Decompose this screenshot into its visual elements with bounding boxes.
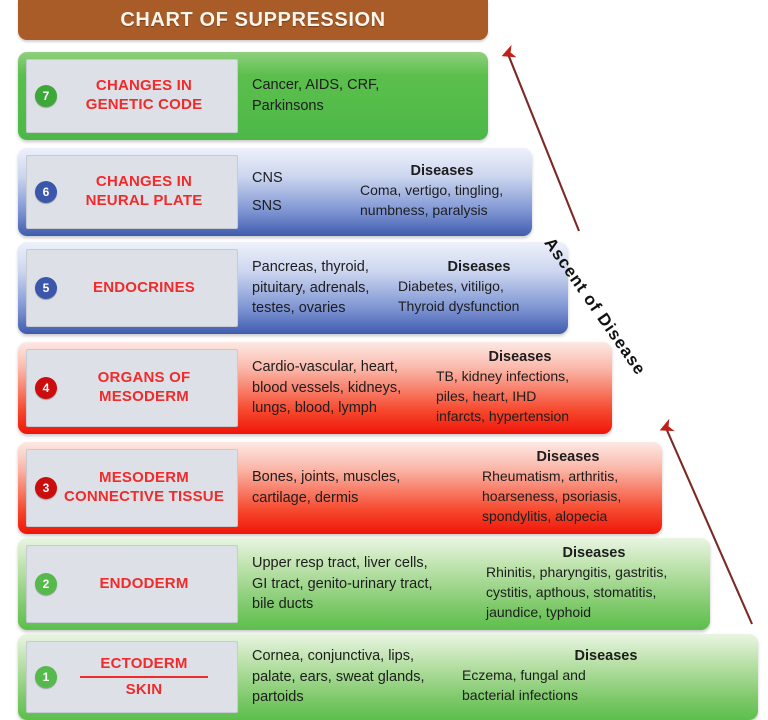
organ-line: palate, ears, sweat glands, — [252, 667, 425, 688]
row-title-line2: CONNECTIVE TISSUE — [57, 488, 231, 507]
row-title-line2: MESODERM — [57, 388, 231, 407]
row-number-badge: 3 — [35, 477, 57, 499]
disease-line: bacterial infections — [462, 686, 750, 706]
row-diseases: DiseasesComa, vertigo, tingling,numbness… — [348, 148, 532, 236]
diseases-body: Rhinitis, pharyngitis, gastritis,cystiti… — [486, 563, 702, 623]
row-title: CHANGES INNEURAL PLATE — [27, 173, 237, 211]
row-title-line1: ECTODERM — [80, 655, 209, 678]
disease-line: piles, heart, IHD — [436, 387, 604, 407]
chart-row-2[interactable]: 2ENDODERMUpper resp tract, liver cells,G… — [18, 538, 710, 630]
page-title: CHART OF SUPPRESSION — [120, 9, 385, 32]
row-title-line1: ORGANS OF — [98, 369, 191, 386]
row-organs: Bones, joints, muscles,cartilage, dermis — [238, 442, 470, 534]
organ-line: Cornea, conjunctiva, lips, — [252, 646, 425, 667]
row-title-line1: MESODERM — [99, 469, 189, 486]
disease-line: Thyroid dysfunction — [398, 297, 560, 317]
chart-row-6[interactable]: 6CHANGES INNEURAL PLATECNSSNSDiseasesCom… — [18, 148, 532, 236]
row-inner: 7CHANGES INGENETIC CODECancer, AIDS, CRF… — [18, 52, 488, 140]
row-label-panel[interactable]: 3MESODERMCONNECTIVE TISSUE — [26, 449, 238, 527]
row-number-badge: 7 — [35, 85, 57, 107]
row-organs: Pancreas, thyroid,pituitary, adrenals,te… — [238, 242, 386, 334]
chart-row-1[interactable]: 1ECTODERMSKINCornea, conjunctiva, lips,p… — [18, 634, 758, 720]
row-diseases: DiseasesRheumatism, arthritis,hoarseness… — [470, 442, 662, 534]
organ-line: Pancreas, thyroid, — [252, 257, 369, 278]
organ-line: GI tract, genito-urinary tract, — [252, 574, 433, 595]
organ-line: Parkinsons — [252, 96, 379, 117]
disease-line: hoarseness, psoriasis, — [482, 487, 654, 507]
row-title-line2: GENETIC CODE — [57, 96, 231, 115]
row-organs: Upper resp tract, liver cells,GI tract, … — [238, 538, 474, 630]
disease-line: Eczema, fungal and — [462, 666, 750, 686]
diseases-body: Rheumatism, arthritis,hoarseness, psoria… — [482, 467, 654, 527]
row-inner: 5ENDOCRINESPancreas, thyroid,pituitary, … — [18, 242, 568, 334]
row-diseases: DiseasesDiabetes, vitiligo,Thyroid dysfu… — [386, 242, 568, 334]
organ-line: testes, ovaries — [252, 298, 369, 319]
row-title-line1: CHANGES IN — [96, 77, 192, 94]
row-number-badge: 1 — [35, 666, 57, 688]
diseases-heading: Diseases — [436, 349, 604, 365]
organ-line: Cardio-vascular, heart, — [252, 357, 401, 378]
row-inner: 4ORGANS OFMESODERMCardio-vascular, heart… — [18, 342, 612, 434]
row-title-line1: CHANGES IN — [96, 173, 192, 190]
chart-row-3[interactable]: 3MESODERMCONNECTIVE TISSUEBones, joints,… — [18, 442, 662, 534]
row-label-panel[interactable]: 7CHANGES INGENETIC CODE — [26, 59, 238, 133]
row-title: ENDOCRINES — [27, 279, 237, 298]
row-number-badge: 5 — [35, 277, 57, 299]
organ-line: SNS — [252, 196, 283, 217]
row-label-panel[interactable]: 5ENDOCRINES — [26, 249, 238, 327]
disease-line: jaundice, typhoid — [486, 603, 702, 623]
row-title: ECTODERMSKIN — [27, 655, 237, 700]
row-diseases: DiseasesRhinitis, pharyngitis, gastritis… — [474, 538, 710, 630]
disease-line: TB, kidney infections, — [436, 367, 604, 387]
disease-line: spondylitis, alopecia — [482, 507, 654, 527]
organ-line: bile ducts — [252, 594, 433, 615]
row-number-badge: 6 — [35, 181, 57, 203]
diseases-heading: Diseases — [398, 259, 560, 275]
row-organs: Cornea, conjunctiva, lips,palate, ears, … — [238, 634, 450, 720]
organ-line: blood vessels, kidneys, — [252, 378, 401, 399]
row-label-panel[interactable]: 4ORGANS OFMESODERM — [26, 349, 238, 427]
diseases-heading: Diseases — [482, 449, 654, 465]
row-inner: 2ENDODERMUpper resp tract, liver cells,G… — [18, 538, 710, 630]
disease-line: Rhinitis, pharyngitis, gastritis, — [486, 563, 702, 583]
row-number-badge: 4 — [35, 377, 57, 399]
diseases-heading: Diseases — [462, 648, 750, 664]
row-label-panel[interactable]: 2ENDODERM — [26, 545, 238, 623]
organ-line: cartilage, dermis — [252, 488, 400, 509]
row-title: ORGANS OFMESODERM — [27, 369, 237, 407]
organ-line: Cancer, AIDS, CRF, — [252, 75, 379, 96]
disease-line: numbness, paralysis — [360, 201, 524, 221]
diseases-heading: Diseases — [486, 545, 702, 561]
diseases-body: Diabetes, vitiligo,Thyroid dysfunction — [398, 277, 560, 317]
chart-of-suppression: CHART OF SUPPRESSION 7CHANGES INGENETIC … — [0, 0, 768, 720]
row-organs: Cardio-vascular, heart,blood vessels, ki… — [238, 342, 424, 434]
row-inner: 1ECTODERMSKINCornea, conjunctiva, lips,p… — [18, 634, 758, 720]
row-title-line2: NEURAL PLATE — [57, 192, 231, 211]
chart-row-4[interactable]: 4ORGANS OFMESODERMCardio-vascular, heart… — [18, 342, 612, 434]
chart-row-5[interactable]: 5ENDOCRINESPancreas, thyroid,pituitary, … — [18, 242, 568, 334]
disease-line: infarcts, hypertension — [436, 407, 604, 427]
row-title-line2: SKIN — [57, 681, 231, 700]
row-inner: 3MESODERMCONNECTIVE TISSUEBones, joints,… — [18, 442, 662, 534]
diseases-body: Eczema, fungal andbacterial infections — [462, 666, 750, 706]
row-title-line1: ENDOCRINES — [93, 279, 195, 296]
disease-line: Rheumatism, arthritis, — [482, 467, 654, 487]
row-organs: CNSSNS — [238, 148, 348, 236]
row-title-line1: ENDODERM — [99, 575, 188, 592]
row-diseases: DiseasesTB, kidney infections,piles, hea… — [424, 342, 612, 434]
row-label-panel[interactable]: 1ECTODERMSKIN — [26, 641, 238, 713]
organ-line: Bones, joints, muscles, — [252, 467, 400, 488]
disease-line: cystitis, apthous, stomatitis, — [486, 583, 702, 603]
disease-line: Diabetes, vitiligo, — [398, 277, 560, 297]
disease-line: Coma, vertigo, tingling, — [360, 181, 524, 201]
chart-title-bar: CHART OF SUPPRESSION — [18, 0, 488, 40]
row-label-panel[interactable]: 6CHANGES INNEURAL PLATE — [26, 155, 238, 229]
row-inner: 6CHANGES INNEURAL PLATECNSSNSDiseasesCom… — [18, 148, 532, 236]
organ-line: Upper resp tract, liver cells, — [252, 553, 433, 574]
row-diseases: DiseasesEczema, fungal andbacterial infe… — [450, 634, 758, 720]
row-title: ENDODERM — [27, 575, 237, 594]
row-title: CHANGES INGENETIC CODE — [27, 77, 237, 115]
diseases-body: TB, kidney infections,piles, heart, IHDi… — [436, 367, 604, 427]
organ-line: pituitary, adrenals, — [252, 278, 369, 299]
chart-row-7[interactable]: 7CHANGES INGENETIC CODECancer, AIDS, CRF… — [18, 52, 488, 140]
row-number-badge: 2 — [35, 573, 57, 595]
organ-line: CNS — [252, 168, 283, 189]
organ-line: partoids — [252, 687, 425, 708]
row-title: MESODERMCONNECTIVE TISSUE — [27, 469, 237, 507]
diseases-heading: Diseases — [360, 163, 524, 179]
row-organs: Cancer, AIDS, CRF,Parkinsons — [238, 52, 379, 140]
organ-line: lungs, blood, lymph — [252, 398, 401, 419]
diseases-body: Coma, vertigo, tingling,numbness, paraly… — [360, 181, 524, 221]
